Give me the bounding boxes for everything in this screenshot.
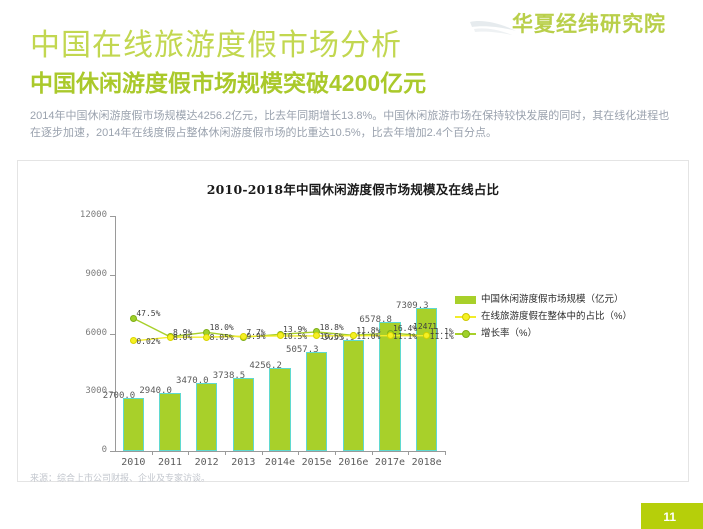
dot-swatch-yellow-icon	[462, 313, 470, 321]
slide-canvas: 华夏经纬研究院 中国在线旅游度假市场分析 中国休闲游度假市场规模突破4200亿元…	[0, 0, 703, 529]
swoosh-icon	[470, 18, 516, 36]
legend-label: 中国休闲游度假市场规模（亿元）	[481, 294, 624, 305]
page-number: 11	[663, 510, 676, 524]
page-title: 中国在线旅游度假市场分析	[30, 20, 402, 64]
legend-label: 在线旅游度假在整体中的占比（%）	[481, 311, 632, 322]
chart-legend: 中国休闲游度假市场规模（亿元） 在线旅游度假在整体中的占比（%） 增长率（%）	[455, 294, 670, 345]
point-value-label: 10.6%	[320, 332, 344, 341]
source-note: 来源：综合上市公司财报、企业及专家访谈。	[30, 471, 210, 484]
legend-item-growth-rate: 增长率（%）	[455, 328, 671, 340]
legend-item-market-size: 中国休闲游度假市场规模（亿元）	[455, 294, 671, 306]
point-value-label: 0.02%	[136, 337, 160, 346]
extra-annotation: 12471	[413, 322, 437, 331]
point-value-label: 47.5%	[136, 309, 160, 318]
point-value-label: 10.5%	[283, 332, 307, 341]
legend-item-online-share: 在线旅游度假在整体中的占比（%）	[455, 311, 671, 323]
brand-logo: 华夏经纬研究院	[470, 8, 695, 42]
footer-bar: 11	[0, 503, 703, 529]
body-paragraph: 2014年中国休闲游度假市场规模达4256.2亿元，比去年同期增长13.8%。中…	[30, 108, 678, 142]
page-subtitle: 中国休闲游度假市场规模突破4200亿元	[30, 64, 426, 98]
point-value-label: 11.1%	[430, 332, 454, 341]
point-value-label: 8.05%	[210, 333, 234, 342]
logo-text: 华夏经纬研究院	[512, 8, 666, 38]
point-value-label: 9.9%	[246, 332, 265, 341]
point-value-label: 18.0%	[210, 323, 234, 332]
point-value-label: 18.8%	[320, 323, 344, 332]
point-value-label: 11.0%	[356, 332, 380, 341]
dot-swatch-green-icon	[462, 330, 470, 338]
footer-white-block	[0, 503, 641, 529]
bar-swatch-icon	[455, 296, 476, 304]
chart-card: 2010-2018年中国休闲游度假市场规模及在线占比 0300060009000…	[17, 160, 689, 482]
legend-label: 增长率（%）	[481, 328, 537, 339]
point-value-label: 8.0%	[173, 333, 192, 342]
point-value-label: 11.1%	[393, 332, 417, 341]
